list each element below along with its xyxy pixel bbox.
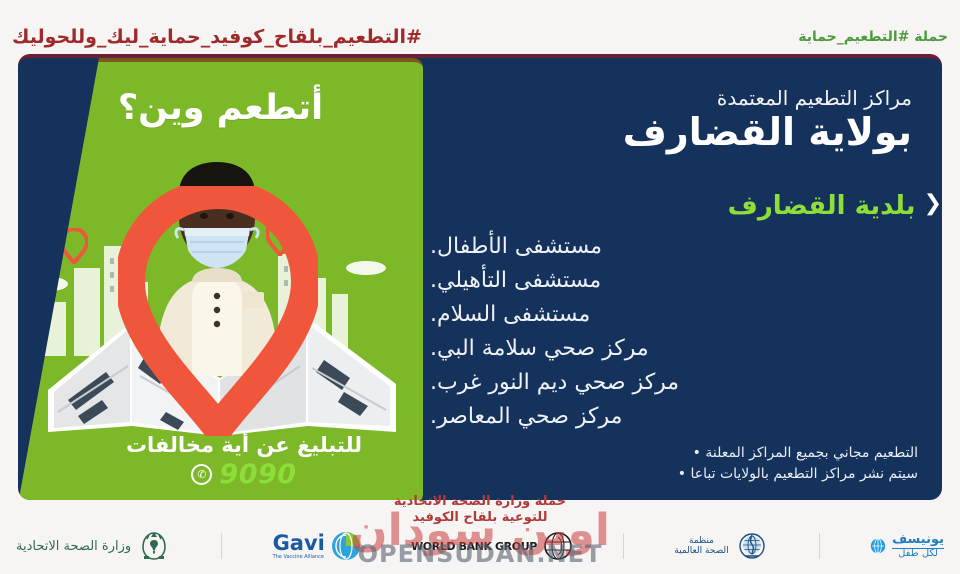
- unicef-globe-icon: [870, 538, 886, 554]
- list-item: مستشفى الأطفال.: [430, 230, 942, 264]
- vaccination-location-illustration: [26, 132, 418, 452]
- unicef-label-tagline: لكل طفل: [892, 549, 944, 560]
- infographic-poster: #التطعيم_بلقاح_كوفيد_حماية_ليك_وللحوليك …: [0, 0, 960, 574]
- footnote-bullet: •: [693, 445, 701, 461]
- list-dot: .: [430, 234, 437, 259]
- world-bank-globe-icon: [543, 531, 573, 561]
- center-name: مستشفى التأهيلي: [437, 268, 601, 293]
- logo-divider: [819, 533, 820, 559]
- center-name: مستشفى السلام: [437, 302, 590, 327]
- navy-panel: أتطعم وين؟: [18, 54, 942, 500]
- footnote-bullet: •: [678, 466, 686, 482]
- who-label-line2: الصحة العالمية: [674, 546, 728, 556]
- logo-gavi: Gavi The Vaccine Alliance: [273, 525, 361, 567]
- footnote-text: سيتم نشر مراكز التطعيم بالولايات تباعا: [690, 466, 918, 482]
- unicef-label-block: يونيسف لكل طفل: [892, 533, 944, 559]
- gavi-label: Gavi: [273, 533, 325, 554]
- chevron-left-icon: ❮: [924, 193, 942, 215]
- center-name: مركز صحي المعاصر: [437, 404, 622, 429]
- who-label-line1: منظمة: [674, 536, 728, 546]
- hotline-number-row[interactable]: 9090 ✆: [89, 459, 399, 490]
- logo-who: منظمة الصحة العالمية: [674, 525, 768, 567]
- world-bank-label: WORLD BANK GROUP: [411, 540, 537, 553]
- logo-ministry-of-health: وزارة الصحة الاتحادية: [16, 525, 171, 567]
- footnotes: التطعيم مجاني بجميع المراكز المعلنة • سي…: [518, 443, 918, 484]
- gavi-sublabel: The Vaccine Alliance: [273, 554, 325, 560]
- locality-name: بلدية القضارف: [728, 191, 916, 221]
- list-item: مركز صحي سلامة البي.: [430, 332, 942, 366]
- list-item: مركز صحي ديم النور غرب.: [430, 366, 942, 400]
- footnote-item: سيتم نشر مراكز التطعيم بالولايات تباعا •: [518, 464, 918, 484]
- page-title: بولاية القضارف: [623, 110, 912, 154]
- hotline-number[interactable]: 9090: [219, 459, 296, 490]
- unicef-label-main: يونيسف: [892, 533, 944, 549]
- center-name: مركز صحي ديم النور غرب: [437, 370, 679, 395]
- ministry-of-health-emblem-icon: [137, 529, 171, 563]
- phone-icon: ✆: [191, 464, 212, 485]
- hotline-label: للتبليغ عن أية مخالفات: [89, 433, 399, 457]
- center-name: مركز صحي سلامة البي: [437, 336, 649, 361]
- list-dot: .: [430, 336, 437, 361]
- logo-divider: [623, 533, 624, 559]
- vaccination-centers-list: مستشفى الأطفال. مستشفى التأهيلي. مستشفى …: [430, 230, 942, 434]
- where-to-vaccinate-heading: أتطعم وين؟: [40, 88, 401, 128]
- list-dot: .: [430, 370, 437, 395]
- list-item: مستشفى السلام.: [430, 298, 942, 332]
- green-panel: أتطعم وين؟: [18, 58, 423, 500]
- campaign-hashtag-secondary: حملة #التطعيم_حماية: [798, 29, 948, 45]
- violation-hotline-block: للتبليغ عن أية مخالفات 9090 ✆: [89, 433, 399, 490]
- list-item: مستشفى التأهيلي.: [430, 264, 942, 298]
- campaign-line-2: للتوعية بلقاح الكوفيد: [0, 510, 960, 526]
- list-item: مركز صحي المعاصر.: [430, 400, 942, 434]
- campaign-hashtag-primary: #التطعيم_بلقاح_كوفيد_حماية_ليك_وللحوليك: [12, 26, 422, 48]
- centers-content: مراكز التطعيم المعتمدة بولاية القضارف ❮ …: [397, 58, 942, 500]
- list-dot: .: [430, 404, 437, 429]
- locality-heading-row: ❮ بلدية القضارف: [430, 191, 942, 221]
- footnote-text: التطعيم مجاني بجميع المراكز المعلنة: [705, 445, 918, 461]
- page-kicker: مراكز التطعيم المعتمدة: [717, 86, 912, 110]
- logo-divider: [221, 533, 222, 559]
- ministry-of-health-label: وزارة الصحة الاتحادية: [16, 539, 131, 554]
- list-dot: .: [430, 268, 437, 293]
- logo-unicef: يونيسف لكل طفل: [870, 525, 944, 567]
- center-name: مستشفى الأطفال: [437, 234, 602, 259]
- list-dot: .: [430, 302, 437, 327]
- logo-world-bank: WORLD BANK GROUP: [411, 525, 573, 567]
- hashtag-bar: #التطعيم_بلقاح_كوفيد_حماية_ليك_وللحوليك …: [0, 0, 960, 54]
- campaign-line-1: حملة وزارة الصحة الاتحادية: [0, 494, 960, 510]
- campaign-tagline: حملة وزارة الصحة الاتحادية للتوعية بلقاح…: [0, 494, 960, 527]
- small-location-pin-left-icon: [60, 228, 88, 264]
- small-location-pin-right-icon: [266, 220, 294, 256]
- gavi-globe-icon: [331, 531, 361, 561]
- footnote-item: التطعيم مجاني بجميع المراكز المعلنة •: [518, 443, 918, 463]
- poster-body: أتطعم وين؟: [0, 54, 960, 514]
- who-emblem-icon: [735, 529, 769, 563]
- who-label-block: منظمة الصحة العالمية: [674, 536, 728, 557]
